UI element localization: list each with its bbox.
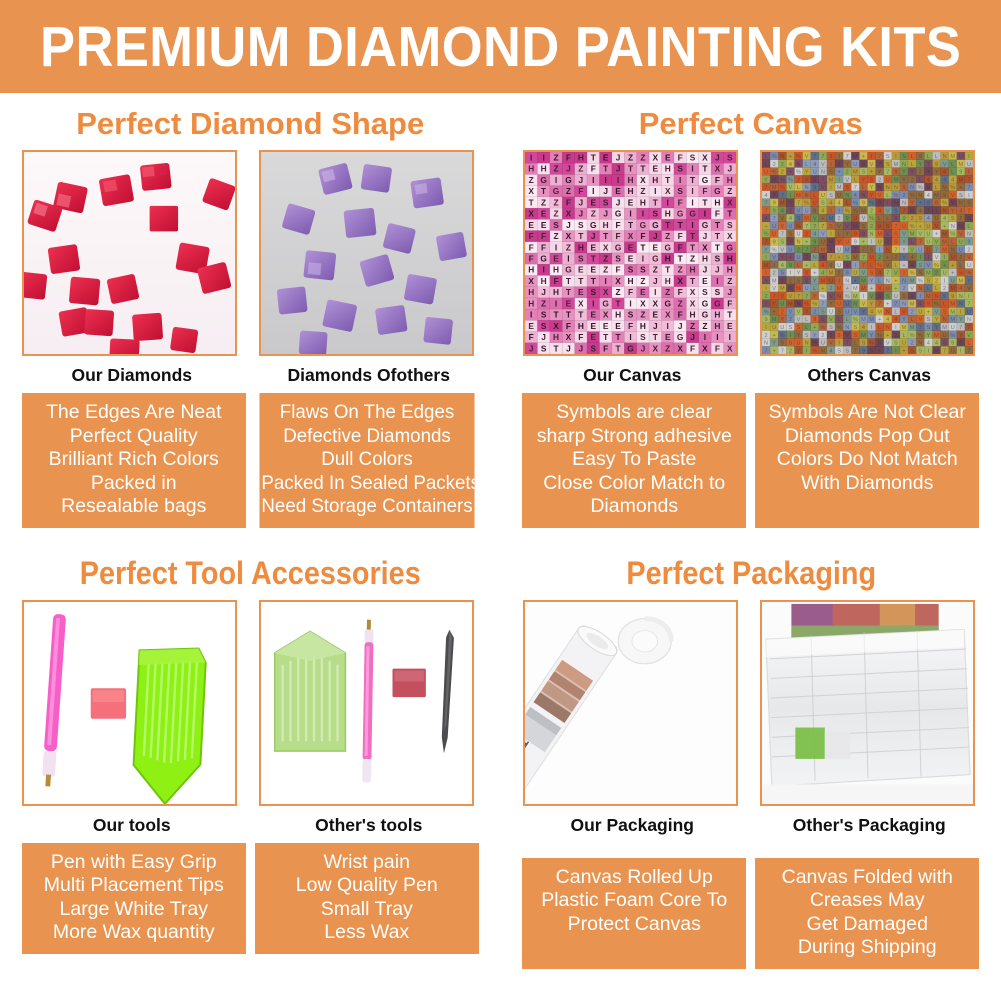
svg-text:%: % xyxy=(934,302,939,308)
svg-text:7: 7 xyxy=(845,341,848,347)
svg-text:G: G xyxy=(664,298,670,308)
svg-text:X: X xyxy=(528,276,534,286)
svg-text:N: N xyxy=(959,201,963,207)
svg-text:+: + xyxy=(805,263,808,269)
svg-text:7: 7 xyxy=(854,348,857,354)
svg-text:N: N xyxy=(902,278,906,284)
svg-text:2: 2 xyxy=(837,162,840,168)
svg-text:E: E xyxy=(541,209,547,219)
svg-text:7: 7 xyxy=(959,325,962,331)
svg-text:J: J xyxy=(653,231,658,241)
svg-text:I: I xyxy=(691,197,693,207)
svg-text:N: N xyxy=(861,193,865,199)
svg-text:N: N xyxy=(959,302,963,308)
svg-text:7: 7 xyxy=(886,170,889,176)
svg-text:Z: Z xyxy=(553,231,558,241)
svg-text:I: I xyxy=(642,254,644,264)
svg-text:S: S xyxy=(796,325,800,331)
svg-text:F: F xyxy=(628,287,633,297)
svg-text:I: I xyxy=(666,197,668,207)
svg-text:L: L xyxy=(837,232,840,238)
svg-text:U: U xyxy=(772,232,776,238)
svg-text:X: X xyxy=(565,231,571,241)
svg-text:S: S xyxy=(553,220,559,230)
bullet-item: More Wax quantity xyxy=(24,921,244,945)
svg-text:N: N xyxy=(950,224,954,230)
svg-text:%: % xyxy=(853,224,858,230)
svg-text:S: S xyxy=(796,278,800,284)
svg-text:+: + xyxy=(813,271,816,277)
bullets-others-tools: Wrist pain Low Quality Pen Small Tray Le… xyxy=(255,843,479,954)
svg-text:U: U xyxy=(837,193,841,199)
svg-text:7: 7 xyxy=(918,240,921,246)
svg-text:4: 4 xyxy=(854,193,857,199)
svg-text:%: % xyxy=(877,263,882,269)
svg-text:U: U xyxy=(926,247,930,253)
svg-text:G: G xyxy=(677,332,683,342)
svg-text:F: F xyxy=(603,343,608,353)
svg-text:H: H xyxy=(689,310,695,320)
svg-text:H: H xyxy=(528,265,534,275)
svg-text:2: 2 xyxy=(780,162,783,168)
svg-text:2: 2 xyxy=(910,177,913,183)
svg-text:V: V xyxy=(780,247,784,253)
svg-text:4: 4 xyxy=(870,309,873,315)
svg-text:X: X xyxy=(627,231,633,241)
svg-text:9: 9 xyxy=(813,185,816,191)
svg-text:+: + xyxy=(764,224,767,230)
svg-text:X: X xyxy=(727,197,733,207)
svg-text:U: U xyxy=(821,341,825,347)
svg-text:4: 4 xyxy=(927,216,930,222)
svg-text:I: I xyxy=(542,153,544,163)
svg-text:S: S xyxy=(727,153,733,163)
svg-text:+: + xyxy=(951,271,954,277)
svg-text:S: S xyxy=(894,232,898,238)
svg-text:F: F xyxy=(715,209,720,219)
svg-text:L: L xyxy=(797,263,800,269)
svg-text:7: 7 xyxy=(854,247,857,253)
svg-text:F: F xyxy=(677,197,682,207)
svg-text:N: N xyxy=(942,317,946,323)
svg-text:V: V xyxy=(934,309,938,315)
svg-text:S: S xyxy=(926,325,930,331)
svg-text:V: V xyxy=(869,162,873,168)
svg-text:Z: Z xyxy=(553,197,558,207)
svg-text:Z: Z xyxy=(640,310,645,320)
svg-text:+: + xyxy=(959,185,962,191)
svg-text:+: + xyxy=(862,154,865,160)
svg-text:V: V xyxy=(845,177,849,183)
svg-text:U: U xyxy=(902,341,906,347)
svg-text:U: U xyxy=(886,286,890,292)
svg-text:I: I xyxy=(716,332,718,342)
bullet-item: Easy To Paste xyxy=(524,448,744,472)
svg-text:F: F xyxy=(628,321,633,331)
svg-text:G: G xyxy=(540,254,546,264)
caption-others-diamonds: Diamonds Ofothers xyxy=(259,356,478,392)
svg-text:%: % xyxy=(804,201,809,207)
svg-text:+: + xyxy=(951,263,954,269)
svg-text:%: % xyxy=(869,341,874,347)
svg-text:T: T xyxy=(578,276,583,286)
svg-text:7: 7 xyxy=(886,271,889,277)
svg-text:M: M xyxy=(772,317,777,323)
svg-text:2: 2 xyxy=(886,240,889,246)
svg-text:I: I xyxy=(704,209,706,219)
svg-text:E: E xyxy=(590,332,596,342)
svg-text:S: S xyxy=(821,309,825,315)
svg-text:7: 7 xyxy=(878,162,881,168)
svg-text:F: F xyxy=(690,343,695,353)
svg-text:J: J xyxy=(616,197,621,207)
svg-text:T: T xyxy=(603,332,608,342)
svg-text:2: 2 xyxy=(943,286,946,292)
svg-text:9: 9 xyxy=(902,216,905,222)
svg-text:4: 4 xyxy=(829,348,832,354)
svg-text:L: L xyxy=(935,154,938,160)
bullet-item: Creases May xyxy=(757,889,977,913)
svg-text:T: T xyxy=(665,175,670,185)
svg-text:H: H xyxy=(578,321,584,331)
svg-text:7: 7 xyxy=(821,177,824,183)
svg-text:N: N xyxy=(918,193,922,199)
svg-text:2: 2 xyxy=(837,271,840,277)
svg-text:X: X xyxy=(665,310,671,320)
svg-text:S: S xyxy=(926,317,930,323)
caption-our-packaging: Our Packaging xyxy=(523,806,742,842)
svg-text:X: X xyxy=(565,332,571,342)
svg-text:I: I xyxy=(542,265,544,275)
svg-text:V: V xyxy=(951,193,955,199)
svg-text:7: 7 xyxy=(821,154,824,160)
svg-text:4: 4 xyxy=(813,162,816,168)
svg-text:M: M xyxy=(804,216,809,222)
svg-text:N: N xyxy=(812,255,816,261)
svg-text:%: % xyxy=(942,201,947,207)
svg-text:N: N xyxy=(845,278,849,284)
svg-text:U: U xyxy=(886,177,890,183)
svg-text:7: 7 xyxy=(772,216,775,222)
svg-text:N: N xyxy=(780,154,784,160)
svg-text:T: T xyxy=(727,310,732,320)
bullets-others-diamonds: Flaws On The Edges Defective Diamonds Du… xyxy=(259,393,474,528)
svg-text:M: M xyxy=(934,348,939,354)
svg-text:S: S xyxy=(677,164,683,174)
svg-text:F: F xyxy=(590,164,595,174)
svg-text:M: M xyxy=(853,294,858,300)
svg-text:%: % xyxy=(909,193,914,199)
svg-text:E: E xyxy=(627,254,633,264)
svg-text:9: 9 xyxy=(789,263,792,269)
svg-text:M: M xyxy=(893,177,898,183)
svg-text:V: V xyxy=(942,162,946,168)
svg-text:U: U xyxy=(772,224,776,230)
bullets-our-canvas: Symbols are clear sharp Strong adhesive … xyxy=(522,393,746,528)
svg-text:%: % xyxy=(771,154,776,160)
svg-text:E: E xyxy=(590,321,596,331)
svg-text:V: V xyxy=(796,309,800,315)
svg-text:U: U xyxy=(902,224,906,230)
svg-text:2: 2 xyxy=(967,247,970,253)
svg-text:L: L xyxy=(805,317,808,323)
bullet-item: Defective Diamonds xyxy=(261,425,472,449)
bullet-item: Symbols are clear xyxy=(524,401,744,425)
svg-text:U: U xyxy=(780,325,784,331)
svg-text:E: E xyxy=(652,242,658,252)
svg-text:%: % xyxy=(966,271,971,277)
svg-text:Y: Y xyxy=(772,341,776,347)
svg-text:U: U xyxy=(894,294,898,300)
svg-text:U: U xyxy=(942,333,946,339)
svg-text:T: T xyxy=(615,343,620,353)
svg-text:E: E xyxy=(590,265,596,275)
svg-text:T: T xyxy=(677,254,682,264)
photo-purple-square-diamonds xyxy=(259,150,474,356)
svg-text:N: N xyxy=(796,240,800,246)
svg-text:X: X xyxy=(652,298,658,308)
bullet-item: Get Damaged xyxy=(757,913,977,937)
svg-text:2: 2 xyxy=(886,348,889,354)
svg-text:E: E xyxy=(652,310,658,320)
svg-text:M: M xyxy=(788,302,793,308)
svg-text:X: X xyxy=(727,343,733,353)
svg-text:E: E xyxy=(578,265,584,275)
svg-text:M: M xyxy=(861,317,866,323)
svg-text:L: L xyxy=(967,224,970,230)
svg-text:T: T xyxy=(690,231,695,241)
svg-text:I: I xyxy=(666,321,668,331)
svg-text:2: 2 xyxy=(764,302,767,308)
svg-text:N: N xyxy=(869,232,873,238)
svg-text:M: M xyxy=(910,278,915,284)
svg-text:9: 9 xyxy=(829,263,832,269)
svg-text:Y: Y xyxy=(780,224,784,230)
svg-text:Y: Y xyxy=(845,333,849,339)
svg-text:2: 2 xyxy=(805,232,808,238)
card-others-canvas: L%N+%V779I7M+I7SISL9LLNMUIL224NL4VI2YU9V… xyxy=(760,150,979,392)
svg-text:S: S xyxy=(869,247,873,253)
svg-text:Z: Z xyxy=(677,298,682,308)
svg-text:J: J xyxy=(603,186,608,196)
card-pair-tools: Our tools xyxy=(0,600,501,842)
svg-text:T: T xyxy=(702,164,707,174)
svg-text:X: X xyxy=(615,276,621,286)
svg-text:V: V xyxy=(805,177,809,183)
svg-text:%: % xyxy=(909,333,914,339)
svg-text:%: % xyxy=(771,247,776,253)
svg-text:H: H xyxy=(528,164,534,174)
svg-text:Y: Y xyxy=(796,348,800,354)
bullet-item: Plastic Foam Core To xyxy=(524,889,744,913)
svg-text:G: G xyxy=(615,242,621,252)
svg-text:7: 7 xyxy=(967,348,970,354)
svg-text:U: U xyxy=(796,232,800,238)
svg-text:X: X xyxy=(528,209,534,219)
svg-text:9: 9 xyxy=(927,185,930,191)
svg-text:F: F xyxy=(528,242,533,252)
svg-text:M: M xyxy=(942,185,947,191)
svg-text:F: F xyxy=(727,298,732,308)
svg-text:+: + xyxy=(918,201,921,207)
svg-text:Y: Y xyxy=(926,333,930,339)
svg-text:M: M xyxy=(950,302,955,308)
svg-text:S: S xyxy=(640,265,646,275)
svg-text:L: L xyxy=(935,185,938,191)
svg-text:+: + xyxy=(837,255,840,261)
svg-text:U: U xyxy=(764,170,768,176)
svg-text:7: 7 xyxy=(764,240,767,246)
svg-text:S: S xyxy=(853,325,857,331)
svg-text:L: L xyxy=(764,162,767,168)
card-pair-packaging: S-101 Our Packaging xyxy=(501,600,1001,842)
svg-text:L: L xyxy=(886,232,889,238)
svg-text:X: X xyxy=(565,209,571,219)
svg-text:T: T xyxy=(653,197,658,207)
svg-text:S: S xyxy=(615,254,621,264)
section-canvas: Perfect Canvas IIZFHTEJZZXEFSXJSHHZJZFTJ… xyxy=(501,93,1001,528)
svg-text:7: 7 xyxy=(780,348,783,354)
bullet-item: During Shipping xyxy=(757,936,977,960)
svg-text:U: U xyxy=(829,309,833,315)
svg-text:V: V xyxy=(829,341,833,347)
svg-text:I: I xyxy=(654,287,656,297)
svg-text:Y: Y xyxy=(813,333,817,339)
caption-our-canvas: Our Canvas xyxy=(523,356,742,392)
svg-text:H: H xyxy=(714,321,720,331)
svg-text:7: 7 xyxy=(805,294,808,300)
svg-text:V: V xyxy=(886,341,890,347)
svg-text:S: S xyxy=(677,186,683,196)
svg-text:L: L xyxy=(764,154,767,160)
svg-text:X: X xyxy=(690,298,696,308)
bullet-item: With Diamonds xyxy=(757,472,977,496)
svg-text:7: 7 xyxy=(813,247,816,253)
svg-text:G: G xyxy=(553,186,559,196)
svg-text:%: % xyxy=(909,271,914,277)
svg-text:N: N xyxy=(804,341,808,347)
photo-red-square-diamonds xyxy=(22,150,237,356)
svg-text:L: L xyxy=(886,216,889,222)
svg-text:U: U xyxy=(837,302,841,308)
svg-text:G: G xyxy=(726,242,732,252)
svg-text:%: % xyxy=(877,333,882,339)
svg-text:Y: Y xyxy=(780,255,784,261)
svg-text:N: N xyxy=(837,294,841,300)
svg-text:7: 7 xyxy=(894,247,897,253)
svg-text:E: E xyxy=(528,220,534,230)
svg-text:V: V xyxy=(829,294,833,300)
svg-text:U: U xyxy=(829,278,833,284)
svg-text:H: H xyxy=(578,242,584,252)
page-title: PREMIUM DIAMOND PAINTING KITS xyxy=(40,14,961,80)
svg-text:U: U xyxy=(837,247,841,253)
svg-text:S: S xyxy=(878,294,882,300)
svg-text:F: F xyxy=(541,242,546,252)
svg-text:U: U xyxy=(845,302,849,308)
card-pair-canvas: IIZFHTEJZZXEFSXJSHHZJZFTJTTEHSITXJZGIGJI… xyxy=(501,150,1001,392)
svg-text:G: G xyxy=(664,242,670,252)
svg-text:X: X xyxy=(603,287,609,297)
bullets-row-canvas: Symbols are clear sharp Strong adhesive … xyxy=(501,393,1001,528)
svg-text:V: V xyxy=(934,224,938,230)
svg-text:%: % xyxy=(836,325,841,331)
bullet-item: Canvas Rolled Up xyxy=(524,866,744,890)
svg-text:I: I xyxy=(592,298,594,308)
svg-text:M: M xyxy=(853,286,858,292)
svg-text:+: + xyxy=(886,333,889,339)
svg-text:V: V xyxy=(967,333,971,339)
svg-text:+: + xyxy=(886,302,889,308)
svg-text:%: % xyxy=(950,333,955,339)
svg-text:L: L xyxy=(870,263,873,269)
svg-text:7: 7 xyxy=(894,302,897,308)
svg-text:N: N xyxy=(959,224,963,230)
bullet-item: Colors Do Not Match xyxy=(757,448,977,472)
svg-text:E: E xyxy=(553,254,559,264)
caption-others-packaging: Other's Packaging xyxy=(760,806,979,842)
bullet-item: Large White Tray xyxy=(24,898,244,922)
svg-text:V: V xyxy=(926,263,930,269)
svg-text:L: L xyxy=(967,341,970,347)
svg-text:+: + xyxy=(902,348,905,354)
svg-text:G: G xyxy=(615,209,621,219)
svg-text:X: X xyxy=(578,298,584,308)
svg-text:L: L xyxy=(878,325,881,331)
svg-text:M: M xyxy=(869,255,874,261)
svg-text:9: 9 xyxy=(918,216,921,222)
svg-text:M: M xyxy=(780,201,785,207)
svg-text:2: 2 xyxy=(805,255,808,261)
svg-text:7: 7 xyxy=(902,208,905,214)
svg-text:H: H xyxy=(727,265,733,275)
svg-text:+: + xyxy=(935,232,938,238)
svg-text:M: M xyxy=(942,325,947,331)
svg-text:T: T xyxy=(640,242,645,252)
svg-text:V: V xyxy=(934,240,938,246)
svg-text:L: L xyxy=(845,201,848,207)
svg-text:J: J xyxy=(578,209,583,219)
svg-text:X: X xyxy=(640,175,646,185)
svg-text:S: S xyxy=(640,332,646,342)
svg-text:S: S xyxy=(918,271,922,277)
svg-text:+: + xyxy=(894,278,897,284)
svg-text:7: 7 xyxy=(854,185,857,191)
svg-text:V: V xyxy=(796,208,800,214)
section-heading-canvas: Perfect Canvas xyxy=(501,93,1001,150)
svg-text:T: T xyxy=(590,153,595,163)
svg-text:7: 7 xyxy=(764,208,767,214)
svg-text:M: M xyxy=(934,193,939,199)
svg-text:4: 4 xyxy=(927,177,930,183)
svg-text:S: S xyxy=(845,348,849,354)
svg-text:I: I xyxy=(629,298,631,308)
svg-text:U: U xyxy=(788,224,792,230)
section-tools: Perfect Tool Accessories xyxy=(0,542,501,969)
svg-text:Z: Z xyxy=(653,265,658,275)
svg-text:S: S xyxy=(837,309,841,315)
svg-text:M: M xyxy=(772,185,777,191)
svg-text:X: X xyxy=(652,343,658,353)
row-bottom: Perfect Tool Accessories xyxy=(0,542,1001,969)
svg-text:%: % xyxy=(869,201,874,207)
svg-text:S: S xyxy=(845,255,849,261)
svg-text:S: S xyxy=(714,254,720,264)
svg-text:Z: Z xyxy=(566,186,571,196)
bullet-item: Diamonds Pop Out xyxy=(757,425,977,449)
svg-text:G: G xyxy=(639,220,645,230)
svg-text:4: 4 xyxy=(951,177,954,183)
